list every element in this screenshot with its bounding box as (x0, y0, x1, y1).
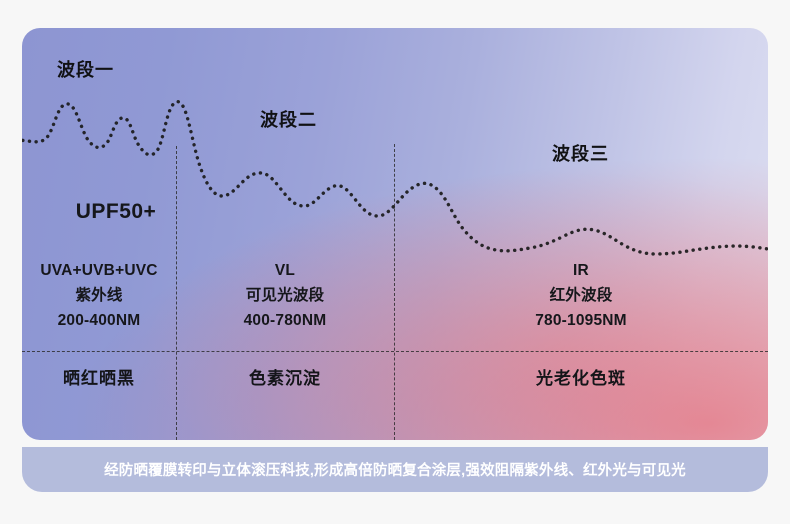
band-code-uv: UVA+UVB+UVC (22, 258, 176, 283)
spectrum-infographic: 波段一 波段二 波段三 UPF50+ UVA+UVB+UVC 紫外线 200-4… (0, 0, 790, 524)
band-name-visible: 可见光波段 (176, 283, 394, 308)
band-info-visible: VL 可见光波段 400-780NM (176, 258, 394, 333)
band-name-uv: 紫外线 (22, 283, 176, 308)
caption-text: 经防晒覆膜转印与立体滚压科技,形成高倍防晒复合涂层,强效阻隔紫外线、红外光与可见… (104, 459, 686, 480)
band-tag-three: 波段三 (552, 140, 609, 166)
band-info-ultraviolet: UVA+UVB+UVC 紫外线 200-400NM (22, 258, 176, 333)
spectrum-card: 波段一 波段二 波段三 UPF50+ UVA+UVB+UVC 紫外线 200-4… (22, 28, 768, 440)
band-tag-two: 波段二 (260, 106, 317, 132)
band-range-visible: 400-780NM (176, 308, 394, 333)
effect-label-visible: 色素沉淀 (176, 364, 394, 389)
band-range-ir: 780-1095NM (394, 308, 768, 333)
band-range-uv: 200-400NM (22, 308, 176, 333)
band-info-infrared: IR 红外波段 780-1095NM (394, 258, 768, 333)
band-tag-one: 波段一 (57, 56, 114, 82)
effect-label-ir: 光老化色斑 (394, 364, 768, 389)
band-code-ir: IR (394, 258, 768, 283)
upf-rating-badge: UPF50+ (46, 200, 186, 224)
effect-label-uv: 晒红晒黑 (22, 364, 176, 389)
band-code-visible: VL (176, 258, 394, 283)
effects-separator-line (22, 351, 768, 352)
caption-banner: 经防晒覆膜转印与立体滚压科技,形成高倍防晒复合涂层,强效阻隔紫外线、红外光与可见… (22, 447, 768, 492)
band-name-ir: 红外波段 (394, 283, 768, 308)
